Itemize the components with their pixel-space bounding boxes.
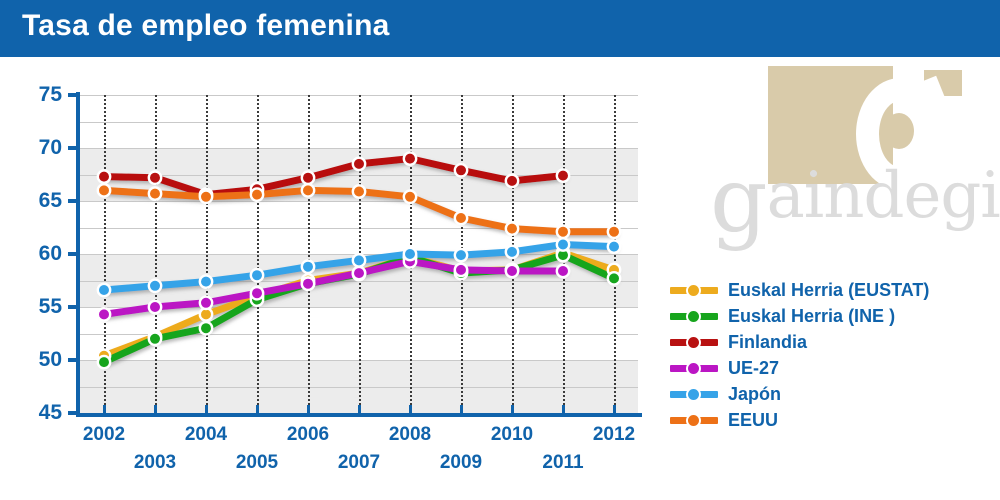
data-point [506,222,518,234]
x-axis-tick [205,405,208,417]
x-axis-tick-label: 2008 [380,424,440,446]
y-axis-tick-label: 70 [39,137,62,158]
data-point [506,175,518,187]
data-point [98,356,110,368]
data-point [506,246,518,258]
y-axis-tick [68,199,77,203]
legend-marker-icon [686,361,701,376]
legend-marker-icon [686,335,701,350]
data-point [251,287,263,299]
legend-item-label: UE-27 [728,358,779,379]
legend-marker-icon [686,283,701,298]
data-point [404,191,416,203]
data-point [302,261,314,273]
y-axis-tick [68,252,77,256]
series-line [104,261,563,314]
x-axis-tick-label: 2009 [431,452,491,474]
title-bar: Tasa de empleo femenina [0,0,1000,57]
y-axis-tick-label: 55 [39,296,62,317]
data-point [353,254,365,266]
legend-swatch-icon [670,383,718,405]
y-axis-tick-label: 65 [39,190,62,211]
legend-item[interactable]: Japón [670,382,990,406]
data-point [404,248,416,260]
data-point [200,322,212,334]
data-point [557,169,569,181]
data-point [608,272,620,284]
data-point [149,187,161,199]
legend-item-label: EEUU [728,410,778,431]
data-point [353,158,365,170]
x-axis-tick [307,405,310,417]
data-point [506,265,518,277]
y-axis-tick [68,93,77,97]
legend-item[interactable]: Euskal Herria (INE ) [670,304,990,328]
x-axis-tick-label: 2004 [176,424,236,446]
y-axis-tick [68,305,77,309]
data-point [455,249,467,261]
legend-swatch-icon [670,305,718,327]
x-axis-tick-label: 2011 [533,452,593,474]
legend-item[interactable]: Euskal Herria (EUSTAT) [670,278,990,302]
x-axis-tick-label: 2012 [584,424,644,446]
data-point [455,164,467,176]
x-axis-tick [613,405,616,417]
x-axis-tick-label: 2002 [74,424,134,446]
y-axis-tick [68,358,77,362]
data-point [98,170,110,182]
x-axis-tick-label: 2007 [329,452,389,474]
x-axis-tick-label: 2005 [227,452,287,474]
legend-swatch-icon [670,357,718,379]
data-point [98,308,110,320]
data-point [608,226,620,238]
legend-swatch-icon [670,331,718,353]
y-axis-tick [68,146,77,150]
data-point [353,267,365,279]
data-point [149,301,161,313]
y-axis-tick-label: 45 [39,402,62,423]
series-layer [80,95,638,413]
data-point [149,280,161,292]
data-point [149,172,161,184]
data-point [302,184,314,196]
gaindegia-logo: gaindegia [700,62,990,272]
x-axis-tick [409,405,412,417]
chart-page: Tasa de empleo femenina 75706560555045 2… [0,0,1000,500]
legend-marker-icon [686,413,701,428]
legend-item-label: Japón [728,384,781,405]
legend-item-label: Finlandia [728,332,807,353]
logo-inner-dot-icon [884,113,914,149]
data-point [200,297,212,309]
x-axis-tick [256,405,259,417]
line-chart: 75706560555045 2002200320042005200620072… [18,80,658,490]
legend-item[interactable]: UE-27 [670,356,990,380]
x-axis-tick [154,405,157,417]
page-title: Tasa de empleo femenina [22,9,390,43]
data-point [557,265,569,277]
data-point [557,226,569,238]
legend-item-label: Euskal Herria (INE ) [728,306,895,327]
x-axis-tick [460,405,463,417]
data-point [200,275,212,287]
x-axis-tick-label: 2010 [482,424,542,446]
legend-item-label: Euskal Herria (EUSTAT) [728,280,929,301]
legend-marker-icon [686,309,701,324]
data-point [251,269,263,281]
x-axis-tick [511,405,514,417]
legend-item[interactable]: Finlandia [670,330,990,354]
data-point [302,172,314,184]
y-axis-tick-label: 60 [39,243,62,264]
y-axis-tick [68,411,77,415]
data-point [557,238,569,250]
data-point [404,152,416,164]
data-point [353,185,365,197]
legend-marker-icon [686,387,701,402]
data-point [455,212,467,224]
y-axis-tick-label: 50 [39,349,62,370]
data-point [98,184,110,196]
data-point [608,240,620,252]
x-axis-tick [103,405,106,417]
data-point [200,191,212,203]
chart-legend: Euskal Herria (EUSTAT)Euskal Herria (INE… [670,278,990,434]
data-point [455,264,467,276]
data-point [302,278,314,290]
legend-item[interactable]: EEUU [670,408,990,432]
x-axis-tick [358,405,361,417]
data-point [251,188,263,200]
data-point [98,284,110,296]
x-axis-tick-label: 2003 [125,452,185,474]
x-axis-tick [562,405,565,417]
data-point [149,333,161,345]
y-axis-tick-label: 75 [39,84,62,105]
x-axis-tick-label: 2006 [278,424,338,446]
logo-wordmark: gaindegia [710,156,1000,246]
legend-swatch-icon [670,279,718,301]
plot-area [80,95,638,413]
legend-swatch-icon [670,409,718,431]
